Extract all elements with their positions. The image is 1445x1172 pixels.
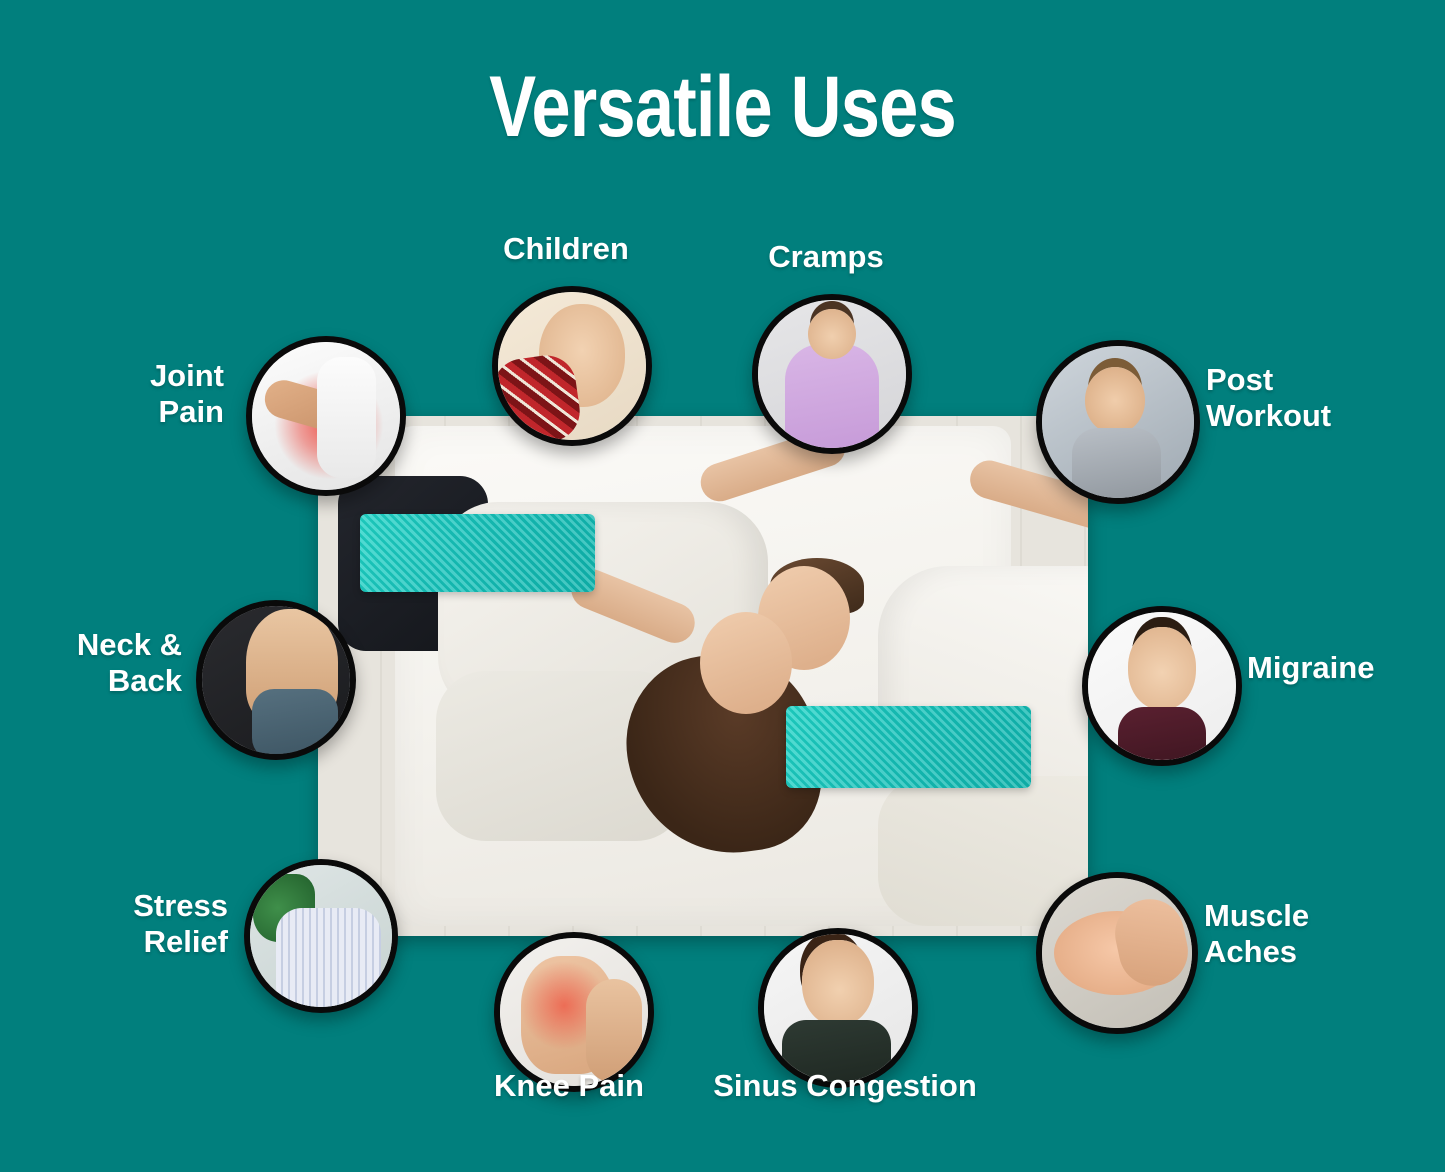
migraine-photo[interactable] bbox=[1082, 606, 1242, 766]
muscle-aches-photo[interactable] bbox=[1036, 872, 1198, 1034]
joint-pain-photo-image bbox=[252, 342, 400, 490]
neck-back-photo[interactable] bbox=[196, 600, 356, 760]
use-case-label-sinus-congestion: Sinus Congestion bbox=[700, 1068, 990, 1104]
use-case-label-children: Children bbox=[446, 231, 686, 267]
knee-pain-photo-image bbox=[500, 938, 648, 1086]
use-case-label-migraine: Migraine bbox=[1247, 650, 1437, 686]
joint-pain-photo[interactable] bbox=[246, 336, 406, 496]
sinus-congestion-photo-image bbox=[764, 934, 912, 1082]
children-photo-image bbox=[498, 292, 646, 440]
cramps-photo[interactable] bbox=[752, 294, 912, 454]
use-case-label-muscle-aches: Muscle Aches bbox=[1204, 898, 1404, 970]
use-case-label-joint-pain: Joint Pain bbox=[54, 358, 224, 430]
migraine-photo-image bbox=[1088, 612, 1236, 760]
post-workout-photo-image bbox=[1042, 346, 1194, 498]
page-title: Versatile Uses bbox=[130, 62, 1315, 152]
stress-relief-photo[interactable] bbox=[244, 859, 398, 1013]
woman-head bbox=[700, 612, 792, 714]
use-case-label-knee-pain: Knee Pain bbox=[452, 1068, 686, 1104]
gel-pack-lower bbox=[786, 706, 1031, 788]
gel-pack-upper bbox=[360, 514, 595, 592]
post-workout-photo[interactable] bbox=[1036, 340, 1200, 504]
children-photo[interactable] bbox=[492, 286, 652, 446]
neck-back-photo-image bbox=[202, 606, 350, 754]
sinus-congestion-photo[interactable] bbox=[758, 928, 918, 1088]
muscle-aches-photo-image bbox=[1042, 878, 1192, 1028]
cramps-photo-image bbox=[758, 300, 906, 448]
use-case-label-neck-back: Neck & Back bbox=[26, 627, 182, 699]
center-product-photo bbox=[318, 416, 1088, 936]
versatile-uses-poster: Versatile Uses Joint PainChildrenCrampsP… bbox=[0, 0, 1445, 1172]
stress-relief-photo-image bbox=[250, 865, 392, 1007]
use-case-label-post-workout: Post Workout bbox=[1206, 362, 1426, 434]
use-case-label-cramps: Cramps bbox=[706, 239, 946, 275]
use-case-label-stress-relief: Stress Relief bbox=[78, 888, 228, 960]
